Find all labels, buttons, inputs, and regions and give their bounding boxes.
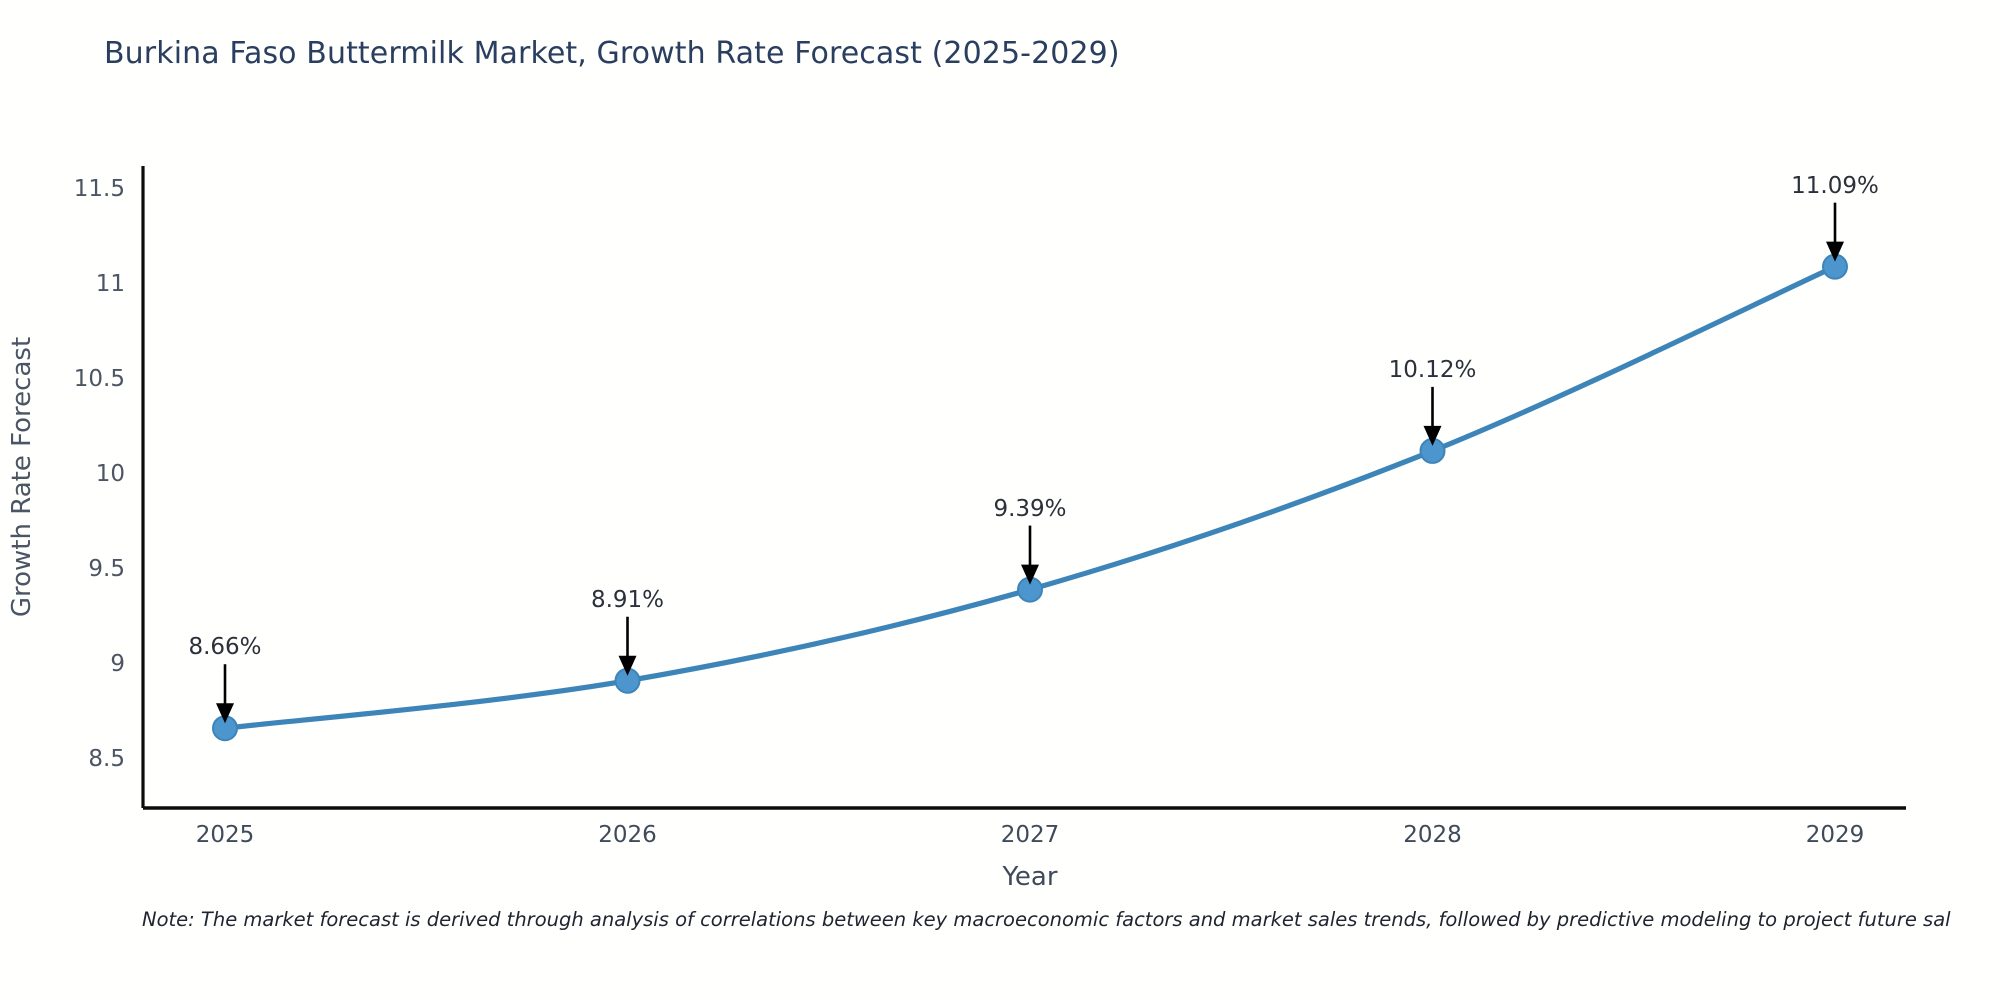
data-point-label: 8.66%	[188, 634, 261, 660]
data-point-label: 9.39%	[993, 496, 1066, 522]
y-axis-title: Growth Rate Forecast	[7, 267, 37, 687]
x-tick-label: 2027	[1001, 822, 1060, 848]
data-point-label: 11.09%	[1791, 173, 1879, 199]
data-point-label: 10.12%	[1389, 357, 1477, 383]
x-tick-label: 2026	[598, 822, 657, 848]
y-tick-label: 8.5	[0, 746, 125, 772]
footnote-text: Note: The market forecast is derived thr…	[142, 908, 1951, 931]
y-tick-label: 11.5	[0, 176, 125, 202]
x-axis-title: Year	[0, 862, 2000, 892]
x-tick-label: 2029	[1806, 822, 1865, 848]
chart-figure: Burkina Faso Buttermilk Market, Growth R…	[0, 0, 2000, 1000]
data-point-label: 8.91%	[591, 587, 664, 613]
x-tick-label: 2025	[196, 822, 255, 848]
annotation-group	[216, 203, 1844, 724]
x-tick-label: 2028	[1403, 822, 1462, 848]
